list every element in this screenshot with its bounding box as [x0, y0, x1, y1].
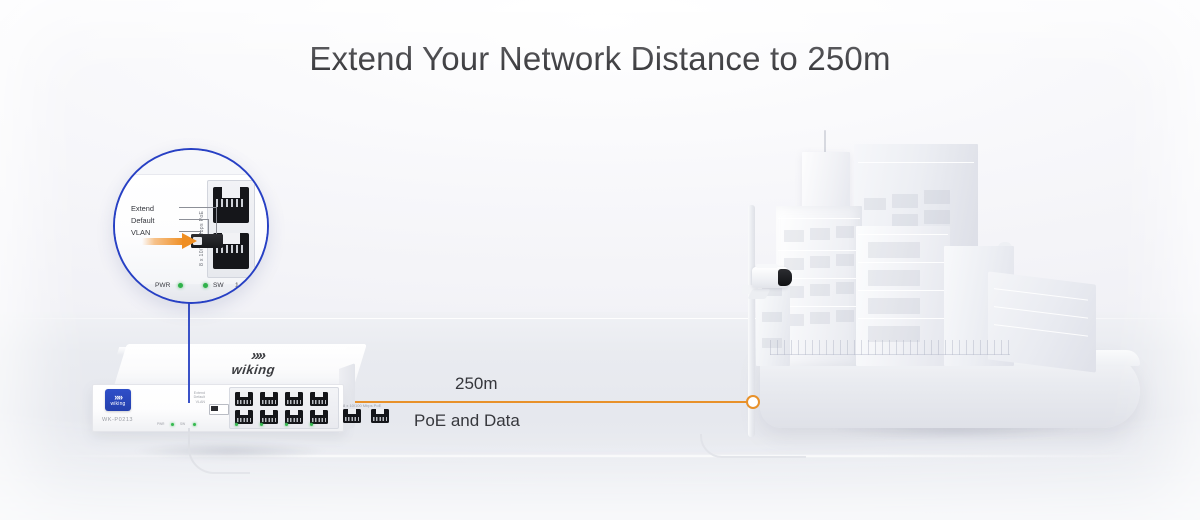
link-type-label: PoE and Data — [414, 411, 520, 431]
page-title: Extend Your Network Distance to 250m — [0, 40, 1200, 78]
poe-switch: »» wiking »» wiking WK-P0213 Extend Defa… — [92, 344, 354, 444]
mode-label-vlan: VLAN — [175, 400, 205, 404]
led-pwr-label: PWR — [157, 422, 164, 426]
patch-cable — [188, 428, 250, 474]
mode-dip-switch[interactable] — [209, 404, 229, 415]
callout-background-top — [115, 150, 267, 174]
callout-device-shelf — [115, 284, 267, 302]
switch-model-label: WK-P0213 — [102, 417, 133, 423]
callout-led-pwr-label: PWR — [155, 282, 170, 289]
brand-chevron-icon: »» — [213, 349, 303, 363]
rj45-uplink-1[interactable] — [343, 409, 361, 423]
led-pwr — [171, 423, 174, 426]
port-group-label: 8 x 10/100 Mbps PoE — [343, 403, 381, 408]
callout-led-port1 — [245, 283, 250, 288]
brand-wordmark: wiking — [209, 363, 299, 376]
scene-canvas: Extend Your Network Distance to 250m — [0, 0, 1200, 520]
callout-mode-label-default: Default — [131, 216, 154, 225]
switch-port-cage-uplink — [293, 387, 339, 427]
rj45-port-2[interactable] — [260, 392, 278, 406]
switch-brand-logo: »» wiking — [207, 349, 303, 381]
camera-arm — [748, 289, 771, 299]
callout-rj45-port-top[interactable] — [213, 187, 249, 223]
camera-sunshield — [756, 264, 778, 268]
rj45-uplink-2[interactable] — [371, 409, 389, 423]
led-sw-label: SW — [180, 422, 185, 426]
rj45-port-5[interactable] — [235, 410, 253, 424]
callout-leader-line — [188, 299, 190, 403]
callout-leader-default — [179, 219, 209, 220]
badge-chevron-icon: »» — [114, 393, 122, 401]
ip-camera — [736, 265, 794, 299]
callout-port-cage — [207, 180, 255, 278]
switch-mode-dip-group: Extend Default VLAN — [175, 391, 227, 417]
link-endpoint-node — [746, 395, 760, 409]
callout-mode-label-extend: Extend — [131, 204, 154, 213]
rj45-port-6[interactable] — [260, 410, 278, 424]
callout-led-sw-label: SW — [213, 282, 224, 289]
camera-lens-icon — [778, 269, 792, 286]
glass-roof-annex — [988, 271, 1096, 372]
building-complex-render — [736, 118, 1160, 436]
roof-mast — [824, 130, 826, 154]
led-sw — [193, 423, 196, 426]
callout-led-pwr — [178, 283, 183, 288]
rj45-port-1[interactable] — [235, 392, 253, 406]
callout-led-port1-label: 1 — [235, 282, 239, 289]
switch-front-panel: »» wiking WK-P0213 Extend Default VLAN — [92, 384, 344, 432]
perimeter-fence — [770, 340, 1010, 355]
callout-leader-extend — [179, 207, 217, 208]
link-distance-label: 250m — [455, 374, 498, 394]
magnified-switch-detail: 8 x 10/100 Mbps PoE Extend Default VLAN … — [113, 148, 269, 304]
callout-port-group-label: 8 x 10/100 Mbps PoE — [199, 180, 205, 266]
switch-brand-badge: »» wiking — [105, 389, 131, 411]
pole-cable-run — [700, 434, 806, 458]
callout-pointer-arrow-icon — [142, 233, 200, 249]
callout-leader-vlan — [179, 231, 201, 232]
badge-wordmark: wiking — [110, 401, 125, 407]
callout-led-sw-dot — [203, 283, 208, 288]
